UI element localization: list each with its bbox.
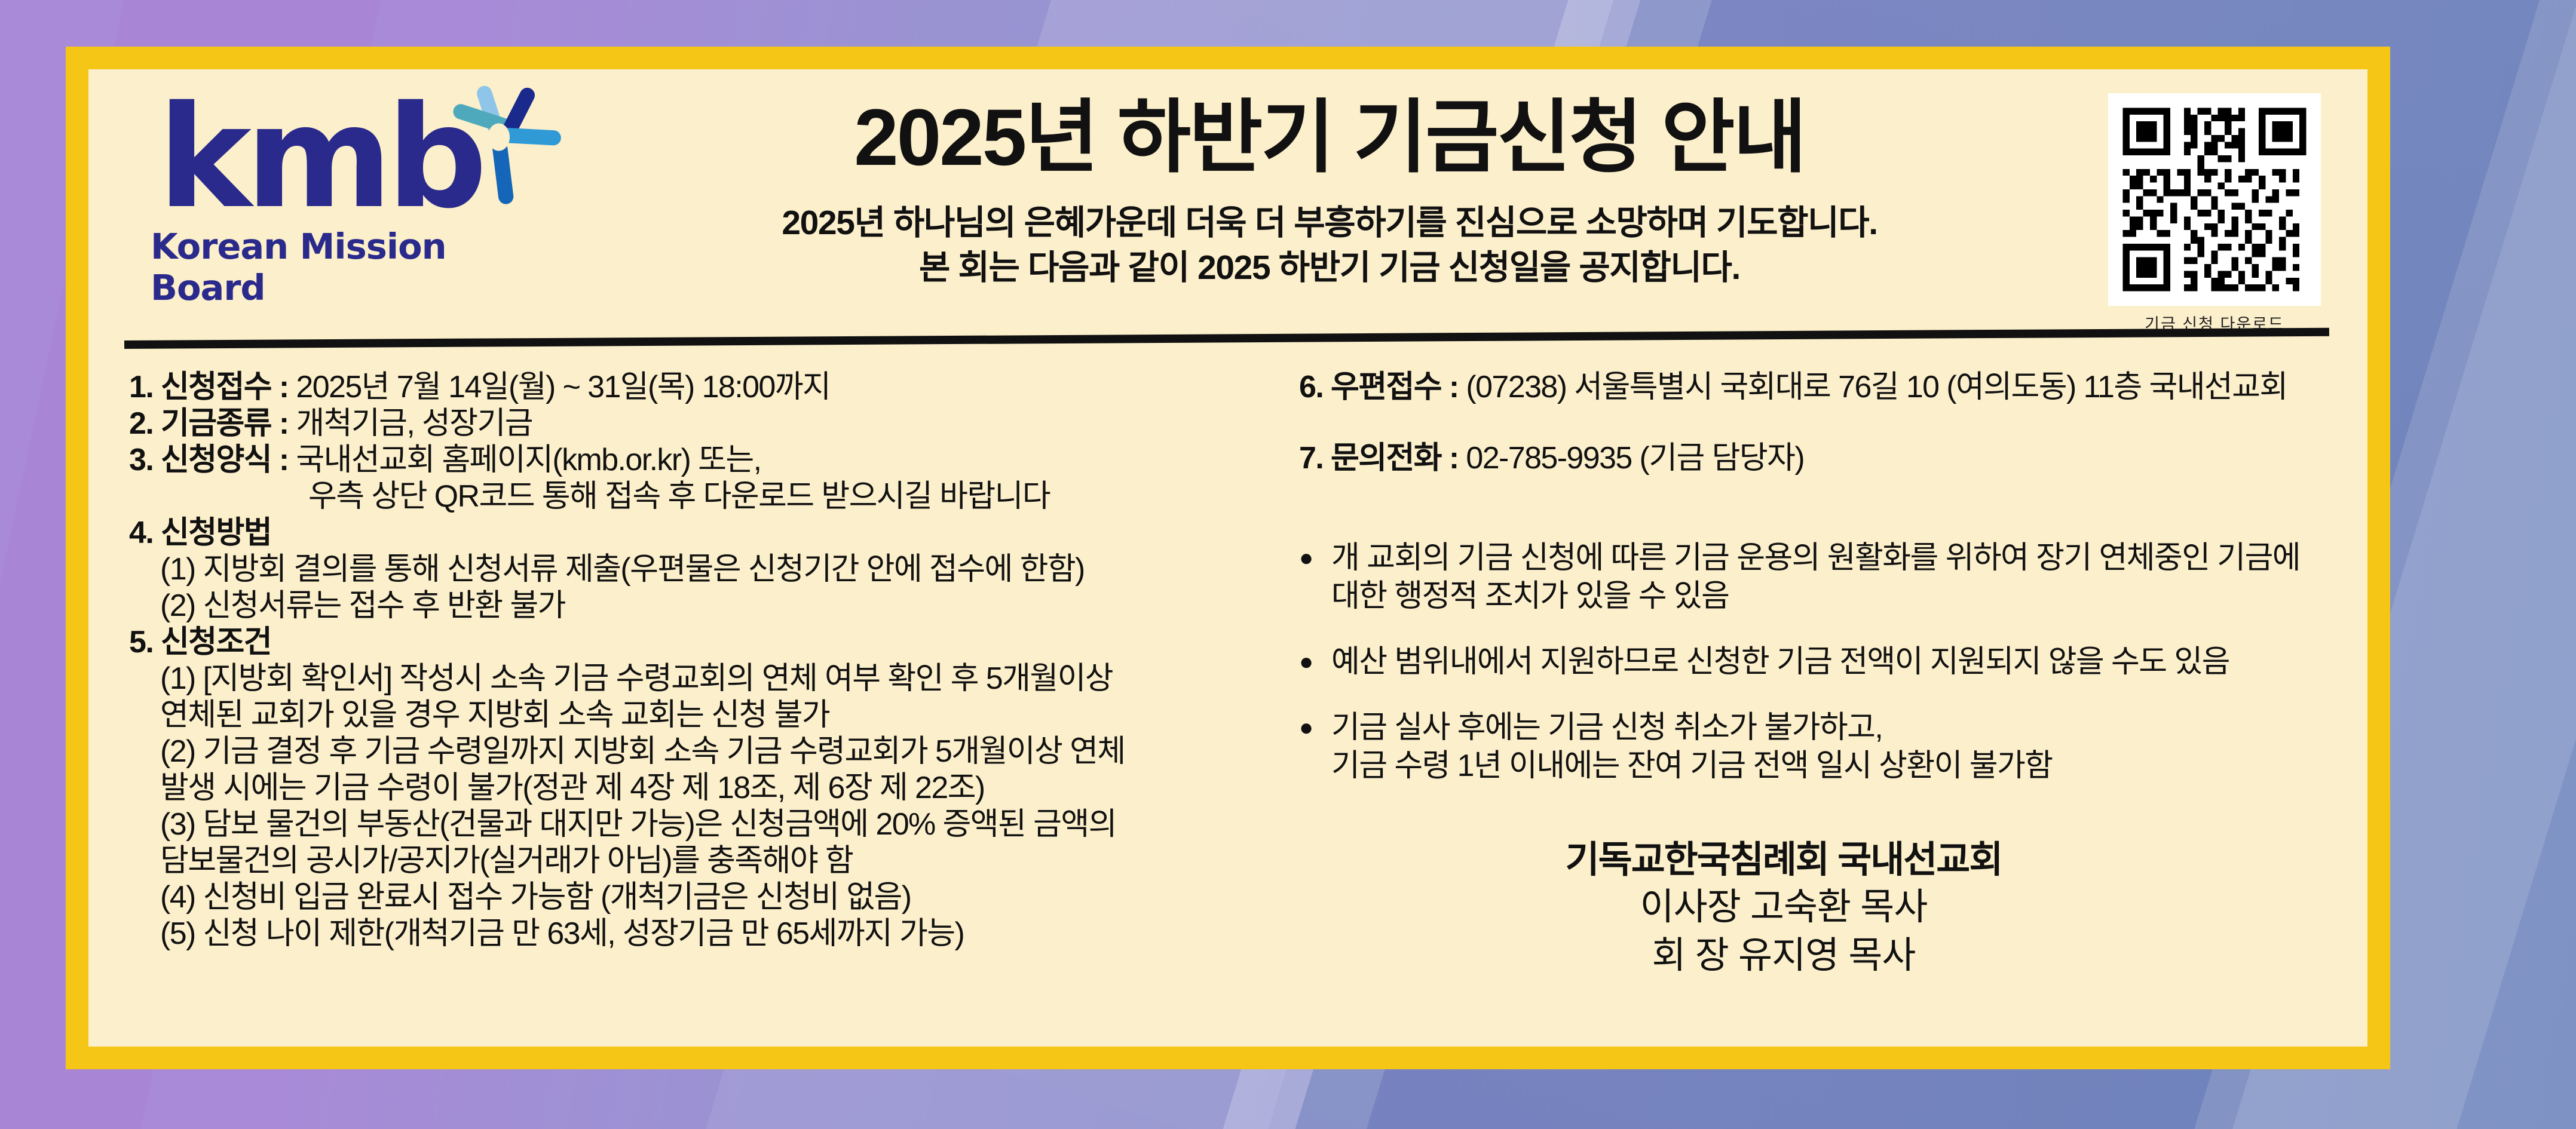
right-column-line: 6. 우편접수 : (07238) 서울특별시 국회대로 76길 10 (여의도… [1299,369,2340,406]
poster-slide: kmb Korean Mission Board [0,0,2576,1129]
subtitle-line-2: 본 회는 다음과 같이 2025 하반기 기금 신청일을 공지합니다. [570,246,2089,290]
left-column-line: (1) [지방회 확인서] 작성시 소속 기금 수령교회의 연체 여부 확인 후… [129,661,1252,697]
kmb-logo: kmb Korean Mission Board [116,80,570,308]
line-value: (2) 신청서류는 접수 후 반환 불가 [160,588,565,623]
line-value: (5) 신청 나이 제한(개척기금 만 63세, 성장기금 만 65세까지 가능… [160,916,964,951]
left-column-line: (1) 지방회 결의를 통해 신청서류 제출(우편물은 신청기간 안에 접수에 … [129,551,1252,588]
line-label: 7. 문의전화 : [1299,441,1466,475]
line-value: 발생 시에는 기금 수령이 불가(정관 제 4장 제 18조, 제 6장 제 2… [160,771,985,805]
poster-body: 1. 신청접수 : 2025년 7월 14일(월) ~ 31일(목) 18:00… [116,349,2340,980]
bullet-line: 기금 수령 1년 이내에는 잔여 기금 전액 일시 상환이 불가함 [1331,747,2052,785]
line-label: 5. 신청조건 [129,625,271,659]
left-column-line: (3) 담보 물건의 부동산(건물과 대지만 가능)은 신청금액에 20% 증액… [129,806,1252,843]
spacer [1299,406,2340,440]
line-value: 연체된 교회가 있을 경우 지방회 소속 교회는 신청 불가 [160,698,829,732]
left-column-line: 5. 신청조건 [129,624,1252,661]
bullet-dot-icon: ● [1299,539,1331,615]
qr-code-block[interactable]: 기금 신청 다운로드 [2089,80,2340,335]
line-label: 4. 신청방법 [129,516,271,550]
line-value: 국내선교회 홈페이지(kmb.or.kr) 또는, [296,443,761,477]
bullet-line: 대한 행정적 조치가 있을 수 있음 [1331,577,2300,615]
line-value: 2025년 7월 14일(월) ~ 31일(목) 18:00까지 [296,370,830,404]
page-title: 2025년 하반기 기금신청 안내 [570,91,2089,185]
signature-org: 기독교한국침례회 국내선교회 [1299,836,2268,883]
right-column: 6. 우편접수 : (07238) 서울특별시 국회대로 76길 10 (여의도… [1252,369,2340,980]
qr-code-card [2108,93,2321,306]
bullet-dot-icon: ● [1299,643,1331,681]
line-label: 3. 신청양식 : [129,443,296,477]
left-column-line: 담보물건의 공시가/공지가(실거래가 아님)를 충족해야 함 [129,843,1252,879]
line-value: (1) [지방회 확인서] 작성시 소속 기금 수령교회의 연체 여부 확인 후… [160,661,1113,696]
bullet-item: ●예산 범위내에서 지원하므로 신청한 기금 전액이 지원되지 않을 수도 있음 [1299,643,2340,681]
spacer [1299,477,2340,511]
bullet-dot-icon: ● [1299,708,1331,785]
line-value: (07238) 서울특별시 국회대로 76길 10 (여의도동) 11층 국내선… [1466,370,2287,404]
left-column-line: (4) 신청비 입금 완료시 접수 가능함 (개척기금은 신청비 없음) [129,879,1252,916]
line-value: 02-785-9935 (기금 담당자) [1466,441,1804,475]
line-value: (2) 기금 결정 후 기금 수령일까지 지방회 소속 기금 수령교회가 5개월… [160,734,1125,769]
line-value: 우측 상단 QR코드 통해 접속 후 다운로드 받으시길 바랍니다 [308,479,1050,514]
left-column-line: 2. 기금종류 : 개척기금, 성장기금 [129,406,1252,442]
left-column-line: 4. 신청방법 [129,515,1252,551]
bullet-text: 기금 실사 후에는 기금 신청 취소가 불가하고,기금 수령 1년 이내에는 잔… [1331,708,2052,785]
bullet-item: ●개 교회의 기금 신청에 따른 기금 운용의 원활화를 위하여 장기 연체중인… [1299,539,2340,615]
left-column-line: 3. 신청양식 : 국내선교회 홈페이지(kmb.or.kr) 또는, [129,442,1252,478]
qr-code-icon [2116,101,2313,298]
left-column-line: (5) 신청 나이 제한(개척기금 만 63세, 성장기금 만 65세까지 가능… [129,916,1252,952]
signature-president: 회 장 유지영 목사 [1299,932,2268,980]
left-column-line: (2) 기금 결정 후 기금 수령일까지 지방회 소속 기금 수령교회가 5개월… [129,734,1252,770]
line-value: 담보물건의 공시가/공지가(실거래가 아님)를 충족해야 함 [160,843,853,878]
line-value: 개척기금, 성장기금 [296,406,532,441]
left-column-line: 우측 상단 QR코드 통해 접속 후 다운로드 받으시길 바랍니다 [129,478,1252,515]
line-label: 6. 우편접수 : [1299,370,1466,404]
line-value: (3) 담보 물건의 부동산(건물과 대지만 가능)은 신청금액에 20% 증액… [160,807,1116,842]
subtitle-line-1: 2025년 하나님의 은혜가운데 더욱 더 부흥하기를 진심으로 소망하며 기도… [570,201,2089,246]
line-value: (1) 지방회 결의를 통해 신청서류 제출(우편물은 신청기간 안에 접수에 … [160,552,1085,587]
poster-paper: kmb Korean Mission Board [88,69,2367,1047]
left-column: 1. 신청접수 : 2025년 7월 14일(월) ~ 31일(목) 18:00… [116,369,1252,980]
bullet-text: 개 교회의 기금 신청에 따른 기금 운용의 원활화를 위하여 장기 연체중인 … [1331,539,2300,615]
bullet-line: 기금 실사 후에는 기금 신청 취소가 불가하고, [1331,708,2052,747]
line-label: 1. 신청접수 : [129,370,296,404]
left-column-line: 연체된 교회가 있을 경우 지방회 소속 교회는 신청 불가 [129,697,1252,734]
bullet-item: ●기금 실사 후에는 기금 신청 취소가 불가하고,기금 수령 1년 이내에는 … [1299,708,2340,785]
bullet-line: 예산 범위내에서 지원하므로 신청한 기금 전액이 지원되지 않을 수도 있음 [1331,643,2229,681]
line-label: 2. 기금종류 : [129,406,296,441]
left-column-line: 발생 시에는 기금 수령이 불가(정관 제 4장 제 18조, 제 6장 제 2… [129,770,1252,806]
signature-chairman: 이사장 고숙환 목사 [1299,883,2268,932]
right-column-line: 7. 문의전화 : 02-785-9935 (기금 담당자) [1299,440,2340,477]
poster-header: kmb Korean Mission Board [116,80,2340,338]
line-value: (4) 신청비 입금 완료시 접수 가능함 (개척기금은 신청비 없음) [160,880,911,915]
bullet-text: 예산 범위내에서 지원하므로 신청한 기금 전액이 지원되지 않을 수도 있음 [1331,643,2229,681]
poster-frame: kmb Korean Mission Board [66,47,2390,1069]
left-column-line: 1. 신청접수 : 2025년 7월 14일(월) ~ 31일(목) 18:00… [129,369,1252,406]
signature-block: 기독교한국침례회 국내선교회 이사장 고숙환 목사 회 장 유지영 목사 [1299,836,2340,980]
left-column-line: (2) 신청서류는 접수 후 반환 불가 [129,588,1252,624]
pinwheel-icon [431,75,569,213]
bullet-line: 개 교회의 기금 신청에 따른 기금 운용의 원활화를 위하여 장기 연체중인 … [1331,539,2300,577]
title-block: 2025년 하반기 기금신청 안내 2025년 하나님의 은혜가운데 더욱 더 … [570,80,2089,291]
